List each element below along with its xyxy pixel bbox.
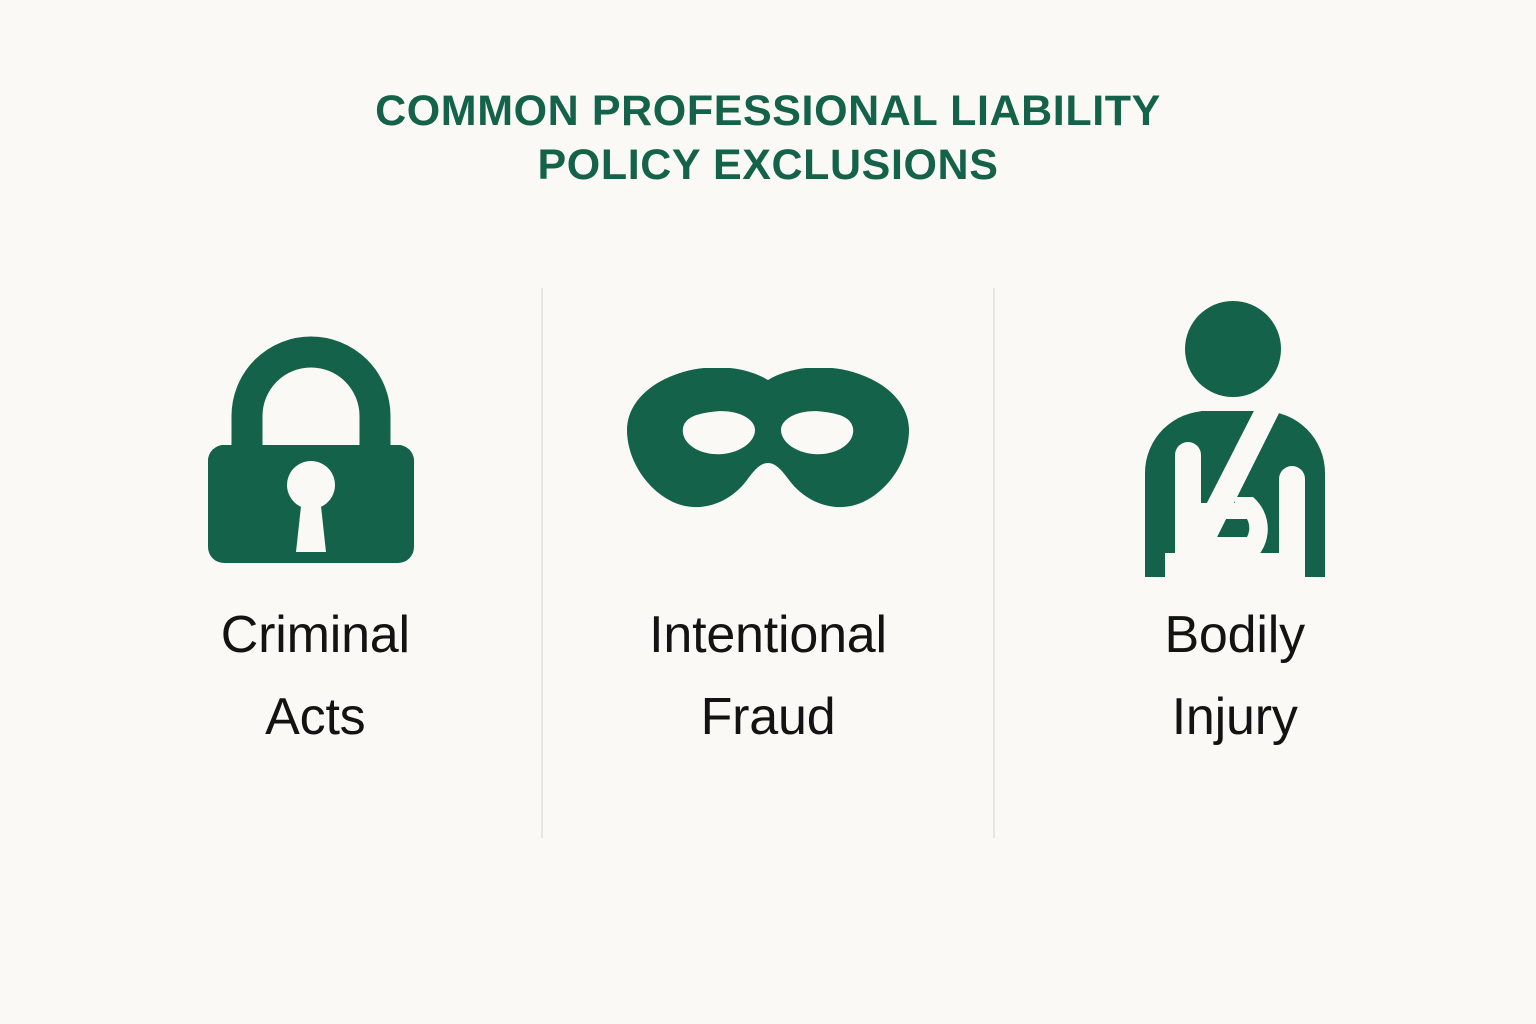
- exclusion-label-intentional-fraud: Intentional Fraud: [649, 594, 887, 758]
- exclusion-card-criminal-acts: Criminal Acts: [90, 288, 541, 838]
- page-title: COMMON PROFESSIONAL LIABILITY POLICY EXC…: [0, 84, 1536, 192]
- exclusion-label-line-2: Acts: [221, 676, 410, 758]
- exclusion-label-line-2: Injury: [1164, 676, 1304, 758]
- exclusion-card-intentional-fraud: Intentional Fraud: [543, 288, 994, 838]
- exclusion-label-line-1: Bodily: [1164, 594, 1304, 676]
- page-title-line-2: POLICY EXCLUSIONS: [0, 138, 1536, 192]
- exclusion-label-line-2: Fraud: [649, 676, 887, 758]
- exclusion-label-bodily-injury: Bodily Injury: [1164, 594, 1304, 758]
- exclusion-label-line-1: Criminal: [221, 594, 410, 676]
- exclusion-label-line-1: Intentional: [649, 594, 887, 676]
- exclusion-label-criminal-acts: Criminal Acts: [221, 594, 410, 758]
- person-arm-sling-icon: [1009, 294, 1460, 584]
- bandit-mask-icon: [543, 294, 994, 584]
- exclusion-card-bodily-injury: Bodily Injury: [995, 288, 1446, 838]
- padlock-icon: [86, 294, 537, 584]
- page-title-line-1: COMMON PROFESSIONAL LIABILITY: [0, 84, 1536, 138]
- exclusions-row: Criminal Acts Intentional Fraud: [90, 288, 1446, 838]
